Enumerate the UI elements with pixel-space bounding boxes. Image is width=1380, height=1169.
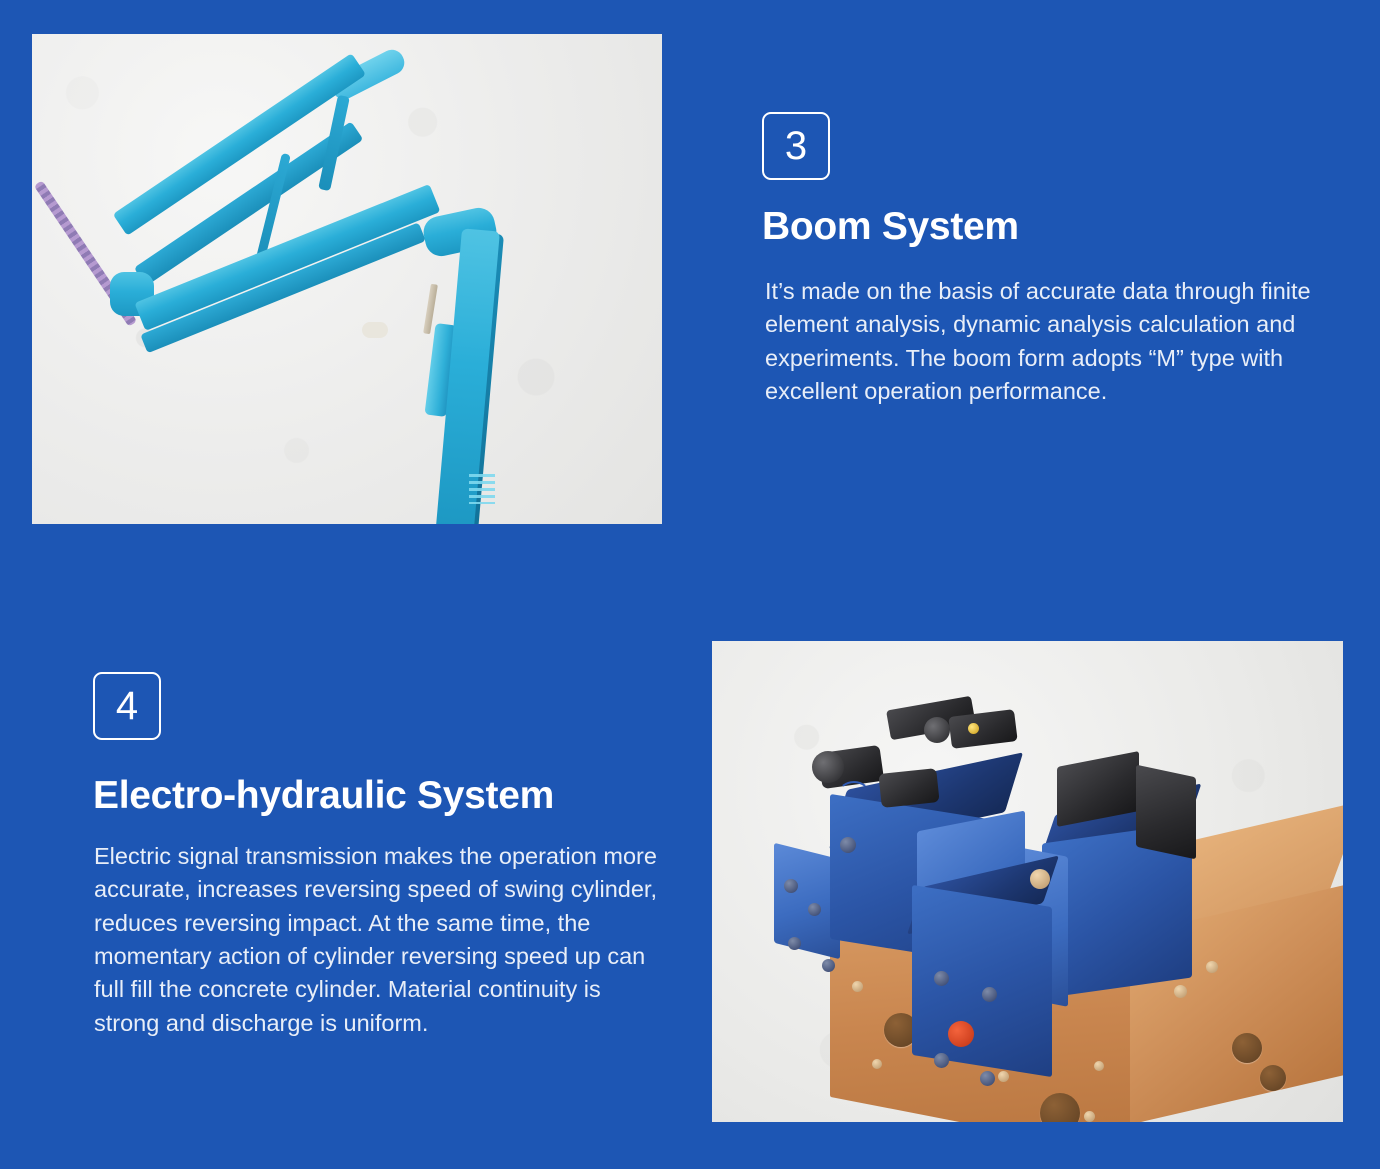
section-title-electro-hydraulic-system: Electro-hydraulic System [93,775,554,818]
manifold-stud-1 [852,981,863,992]
section-number-badge-3: 3 [762,112,830,180]
boom-hinge-pin [362,322,388,338]
section-number-badge-4: 4 [93,672,161,740]
valve-photo-inner [712,641,1343,1122]
manifold-stud-7 [1174,985,1187,998]
slide-canvas: 3 Boom System It’s made on the basis of … [0,0,1380,1169]
manifold-stud-10 [1094,1061,1104,1071]
valve-port-left-4 [788,937,801,950]
manifold-port-3 [1232,1033,1262,1063]
manifold-stud-8 [1206,961,1218,973]
valve-port-left-5 [822,959,835,972]
solenoid-cap-mid [924,717,950,743]
manifold-stud-3 [872,1059,882,1069]
section-body-boom-system: It’s made on the basis of accurate data … [765,275,1331,408]
valve-port-center-1 [934,971,949,986]
solenoid-cap-left [812,751,844,783]
valve-port-center-2 [982,987,997,1002]
indicator-lamp-amber [968,723,979,734]
section-body-electro-hydraulic-system: Electric signal transmission makes the o… [94,840,672,1040]
valve-port-left-2 [784,879,798,893]
boom-arm-photo [32,34,662,524]
manifold-port-4 [1260,1065,1286,1091]
indicator-plug-red [948,1021,974,1047]
valve-port-center-3 [934,1053,949,1068]
manifold-stud-4 [998,1071,1009,1082]
valve-port-left-1 [840,837,856,853]
valve-port-right-brass [1030,869,1050,889]
valve-port-center-4 [980,1071,995,1086]
valve-block-center [912,885,1052,1077]
valve-port-left-3 [808,903,821,916]
section-title-boom-system: Boom System [762,206,1019,249]
solenoid-coil-b [878,768,939,808]
solenoid-wire-loop [838,781,870,807]
hydraulic-valve-photo [712,641,1343,1122]
manifold-stud-5 [1084,1111,1095,1122]
boom-photo-inner [32,34,662,524]
solenoid-coil-right-lower [1136,765,1196,860]
boom-base-grill [469,474,495,504]
